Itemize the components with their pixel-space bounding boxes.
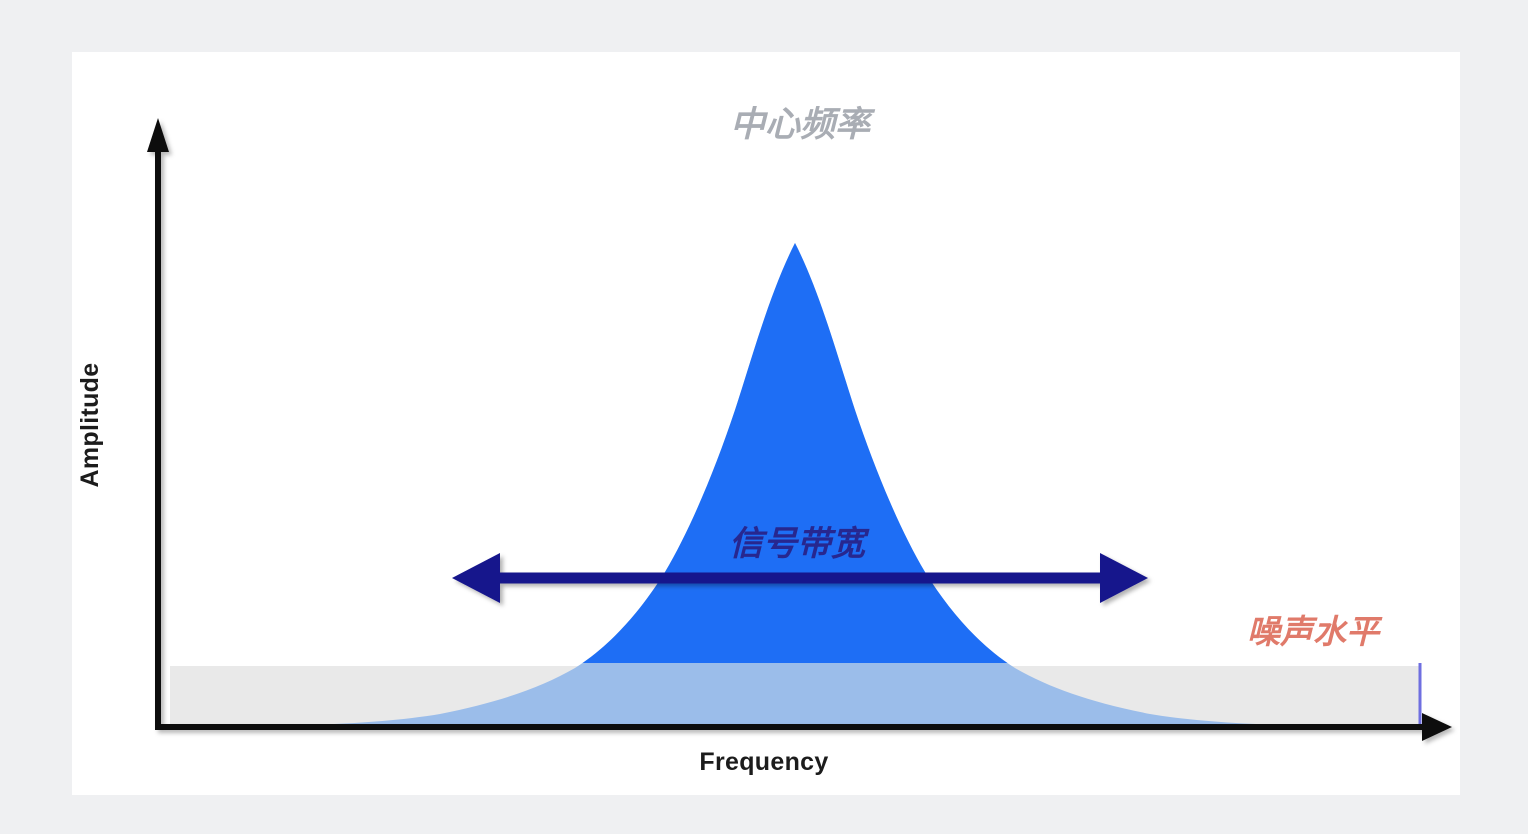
diagram-root: Amplitude Frequency 中心频率 信号带宽 噪声水平 — [0, 0, 1528, 834]
x-axis-arrowhead — [1422, 713, 1452, 741]
spectrum-plot — [0, 0, 1528, 834]
y-axis-arrowhead — [147, 118, 169, 152]
